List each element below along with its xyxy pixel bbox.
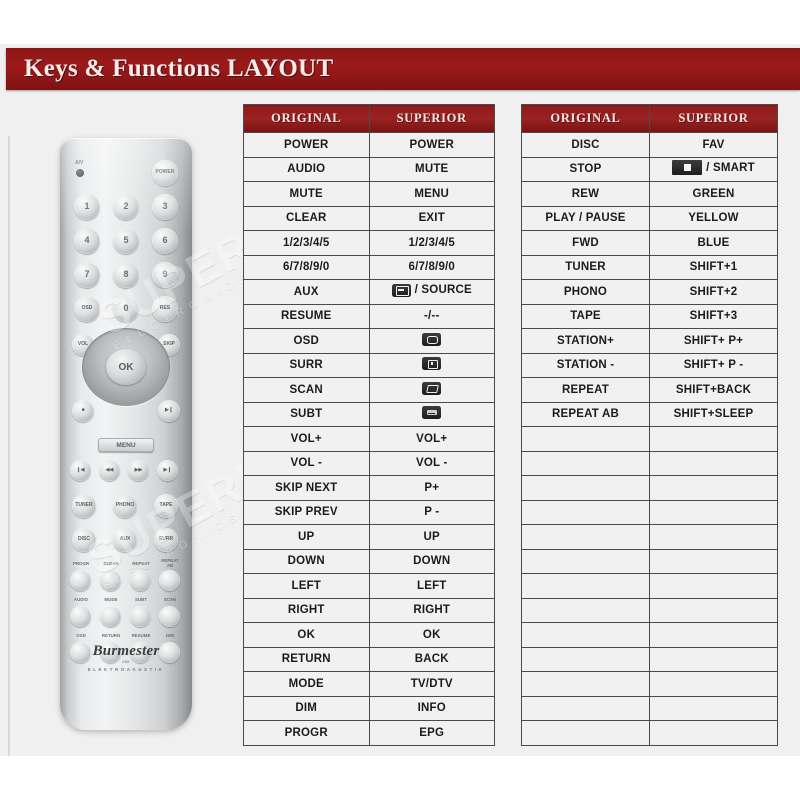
table-row: SUBT [244, 402, 495, 427]
table-row: PROGREPG [244, 721, 495, 746]
remote-label-subt: SUBT [128, 598, 154, 603]
cell-superior [650, 451, 778, 476]
cell-superior: MUTE [369, 157, 495, 182]
table-row [522, 574, 778, 599]
cell-superior: DOWN [369, 549, 495, 574]
remote-control-image: A/V POWER 1 2 3 4 5 6 7 8 9 OSD 0 RES VO… [60, 138, 192, 730]
table-row [522, 721, 778, 746]
remote-button-repeat-ab [159, 570, 180, 591]
cell-original: STATION+ [522, 329, 650, 354]
cell-original: TAPE [522, 304, 650, 329]
cell-original: CLEAR [244, 206, 370, 231]
remote-button-progr [70, 570, 91, 591]
table-row: 1/2/3/4/51/2/3/4/5 [244, 231, 495, 256]
table-row: UPUP [244, 525, 495, 550]
cell-original: SKIP PREV [244, 500, 370, 525]
cell-superior: -/-- [369, 304, 495, 329]
remote-label-clear: CLEAR [98, 562, 124, 567]
cell-superior [650, 500, 778, 525]
cell-superior [650, 623, 778, 648]
cell-superior [650, 549, 778, 574]
table-row: 6/7/8/9/06/7/8/9/0 [244, 255, 495, 280]
table-row: FWDBLUE [522, 231, 778, 256]
mapping-table: ORIGINAL SUPERIOR DISCFAVSTOP/ SMARTREWG… [521, 104, 778, 746]
table-row: STATION -SHIFT+ P - [522, 353, 778, 378]
cell-superior: P - [369, 500, 495, 525]
cell-superior: P+ [369, 476, 495, 501]
remote-label-progr: PROGR [68, 562, 94, 567]
surround-icon [422, 357, 441, 370]
cell-superior [650, 721, 778, 746]
cell-original: VOL - [244, 451, 370, 476]
cell-original: PHONO [522, 280, 650, 305]
remote-key-8: 8 [113, 262, 139, 288]
cell-superior [650, 525, 778, 550]
table-row: OKOK [244, 623, 495, 648]
cell-original: PROGR [244, 721, 370, 746]
remote-forward-button: ▶▶ [128, 460, 149, 481]
cell-original [522, 598, 650, 623]
table-row: STATION+SHIFT+ P+ [522, 329, 778, 354]
table-row: AUDIOMUTE [244, 157, 495, 182]
remote-key-7: 7 [74, 262, 100, 288]
table-row: MUTEMENU [244, 182, 495, 207]
remote-prev-button: ❙◀ [70, 460, 91, 481]
cell-original: VOL+ [244, 427, 370, 452]
cell-superior [650, 574, 778, 599]
cell-original: REW [522, 182, 650, 207]
cell-superior [650, 696, 778, 721]
table-row: VOL -VOL - [244, 451, 495, 476]
cell-superior: INFO [369, 696, 495, 721]
cell-superior: SHIFT+ P+ [650, 329, 778, 354]
cell-original: FWD [522, 231, 650, 256]
cell-superior: TV/DTV [369, 672, 495, 697]
column-header-original: ORIGINAL [244, 105, 370, 133]
cell-superior: 1/2/3/4/5 [369, 231, 495, 256]
cell-original [522, 476, 650, 501]
remote-label-resume: RESUME [128, 634, 154, 639]
remote-power-button: POWER [152, 160, 178, 186]
remote-label-dim: DIM [157, 634, 183, 639]
cell-original: SKIP NEXT [244, 476, 370, 501]
table-row: LEFTLEFT [244, 574, 495, 599]
cell-superior: SHIFT+2 [650, 280, 778, 305]
table-row [522, 427, 778, 452]
remote-key-9: 9 [152, 262, 178, 288]
remote-label-repeat-ab: REPEATAB [157, 559, 183, 568]
remote-label-repeat: REPEAT [128, 562, 154, 567]
remote-key-2: 2 [113, 194, 139, 220]
cell-original: POWER [244, 133, 370, 158]
cell-superior: OK [369, 623, 495, 648]
table-row: AUX/ SOURCE [244, 280, 495, 305]
table-row [522, 525, 778, 550]
remote-source-surr: SURR [154, 528, 178, 552]
cell-original [522, 549, 650, 574]
table-row: SKIP NEXTP+ [244, 476, 495, 501]
remote-rewind-button: ◀◀ [99, 460, 120, 481]
cell-superior [650, 476, 778, 501]
remote-brand-subtitle: ELEKTROAKUSTIK [60, 667, 192, 672]
cell-original: STATION - [522, 353, 650, 378]
remote-key-5: 5 [113, 228, 139, 254]
cell-original: 6/7/8/9/0 [244, 255, 370, 280]
table-row: REWGREEN [522, 182, 778, 207]
cell-original [522, 427, 650, 452]
cell-original: RESUME [244, 304, 370, 329]
cell-original: DISC [522, 133, 650, 158]
cell-superior [650, 647, 778, 672]
cell-superior: VOL+ [369, 427, 495, 452]
page-root: Keys & Functions LAYOUT A/V POWER 1 2 3 … [0, 0, 800, 800]
remote-button-audio [70, 606, 91, 627]
table-row: TUNERSHIFT+1 [522, 255, 778, 280]
cell-original: DOWN [244, 549, 370, 574]
cell-superior: BLUE [650, 231, 778, 256]
osd-icon [422, 333, 441, 346]
table-row: MODETV/DTV [244, 672, 495, 697]
cell-superior [650, 427, 778, 452]
subtitle-icon [422, 406, 441, 419]
cell-superior: BACK [369, 647, 495, 672]
cell-superior: SHIFT+SLEEP [650, 402, 778, 427]
remote-key-1: 1 [74, 194, 100, 220]
cell-original: AUX [244, 280, 370, 305]
cell-superior [369, 329, 495, 354]
cell-superior-text: / SMART [706, 162, 755, 174]
cell-original: OK [244, 623, 370, 648]
cell-original [522, 574, 650, 599]
mapping-table: ORIGINAL SUPERIOR POWERPOWERAUDIOMUTEMUT… [243, 104, 495, 746]
cell-original [522, 451, 650, 476]
remote-navigation-ring: OK [82, 328, 170, 406]
table-header-row: ORIGINAL SUPERIOR [522, 105, 778, 133]
cell-original: STOP [522, 157, 650, 182]
table-row: SURR [244, 353, 495, 378]
cell-superior: / SMART [650, 157, 778, 182]
cell-original [522, 623, 650, 648]
table-row: CLEAREXIT [244, 206, 495, 231]
remote-key-3: 3 [152, 194, 178, 220]
cell-original: RIGHT [244, 598, 370, 623]
table-row: SKIP PREVP - [244, 500, 495, 525]
remote-menu-button: MENU [98, 438, 154, 452]
cell-superior: / SOURCE [369, 280, 495, 305]
cell-original [522, 696, 650, 721]
cell-superior: SHIFT+ P - [650, 353, 778, 378]
remote-body: A/V POWER 1 2 3 4 5 6 7 8 9 OSD 0 RES VO… [60, 138, 192, 730]
remote-label-osd: OSD [68, 634, 94, 639]
cell-superior: UP [369, 525, 495, 550]
cell-superior-text: / SOURCE [415, 284, 472, 296]
table-row [522, 598, 778, 623]
remote-key-6: 6 [152, 228, 178, 254]
cell-superior: POWER [369, 133, 495, 158]
remote-label-scan: SCAN [157, 598, 183, 603]
table-row: STOP/ SMART [522, 157, 778, 182]
table-row: RIGHTRIGHT [244, 598, 495, 623]
table-row [522, 451, 778, 476]
table-row: OSD [244, 329, 495, 354]
cell-superior [369, 378, 495, 403]
cell-superior: FAV [650, 133, 778, 158]
remote-button-scan [159, 606, 180, 627]
page-title: Keys & Functions LAYOUT [6, 55, 334, 83]
table-row: REPEATSHIFT+BACK [522, 378, 778, 403]
table-row: DIMINFO [244, 696, 495, 721]
remote-key-display: OSD [74, 296, 100, 322]
cell-superior: SHIFT+BACK [650, 378, 778, 403]
left-rule [8, 136, 10, 756]
remote-source-aux: AUX [113, 528, 137, 552]
remote-source-disc: DISC [72, 528, 96, 552]
cell-superior: VOL - [369, 451, 495, 476]
cell-superior: EPG [369, 721, 495, 746]
table-header-row: ORIGINAL SUPERIOR [244, 105, 495, 133]
cell-original: MODE [244, 672, 370, 697]
cell-superior: GREEN [650, 182, 778, 207]
remote-brand-model: 080 [60, 660, 192, 664]
av-indicator-led [76, 169, 84, 177]
remote-label-audio: AUDIO [68, 598, 94, 603]
cell-original: REPEAT [522, 378, 650, 403]
table-row: PLAY / PAUSEYELLOW [522, 206, 778, 231]
cell-original: TUNER [522, 255, 650, 280]
remote-brand-logo: Burmester [60, 643, 192, 660]
table-row [522, 476, 778, 501]
remote-button-clear [100, 570, 121, 591]
cell-superior [650, 598, 778, 623]
table-row [522, 623, 778, 648]
column-header-original: ORIGINAL [522, 105, 650, 133]
key-mapping-table-right: ORIGINAL SUPERIOR DISCFAVSTOP/ SMARTREWG… [521, 104, 778, 746]
cell-superior: 6/7/8/9/0 [369, 255, 495, 280]
column-header-superior: SUPERIOR [369, 105, 495, 133]
remote-next-button: ▶❙ [157, 460, 178, 481]
cell-original [522, 525, 650, 550]
table-row: SCAN [244, 378, 495, 403]
remote-ok-button: OK [106, 349, 146, 385]
table-row: POWERPOWER [244, 133, 495, 158]
source-icon [392, 284, 411, 297]
remote-source-tuner: TUNER [72, 494, 96, 518]
table-row [522, 647, 778, 672]
cell-original [522, 721, 650, 746]
table-row: TAPESHIFT+3 [522, 304, 778, 329]
table-row [522, 672, 778, 697]
cell-original: REPEAT AB [522, 402, 650, 427]
cell-superior: YELLOW [650, 206, 778, 231]
cell-original: SURR [244, 353, 370, 378]
remote-key-0: 0 [113, 296, 139, 322]
cell-original: SUBT [244, 402, 370, 427]
table-row [522, 696, 778, 721]
cell-original [522, 500, 650, 525]
remote-button-repeat [130, 570, 151, 591]
table-row: RETURNBACK [244, 647, 495, 672]
table-body: POWERPOWERAUDIOMUTEMUTEMENUCLEAREXIT1/2/… [244, 133, 495, 746]
page-header-banner: Keys & Functions LAYOUT [6, 48, 800, 90]
cell-original: RETURN [244, 647, 370, 672]
cell-superior: SHIFT+3 [650, 304, 778, 329]
table-row [522, 549, 778, 574]
av-indicator-label: A/V [75, 160, 83, 166]
table-row: RESUME-/-- [244, 304, 495, 329]
cell-original: DIM [244, 696, 370, 721]
remote-label-mode: MODE [98, 598, 124, 603]
cell-superior: LEFT [369, 574, 495, 599]
remote-label-return: RETURN [98, 634, 124, 639]
stop-icon [672, 160, 702, 175]
cell-original: AUDIO [244, 157, 370, 182]
cell-superior [369, 353, 495, 378]
remote-source-tape: TAPE [154, 494, 178, 518]
cell-original: PLAY / PAUSE [522, 206, 650, 231]
table-row: DOWNDOWN [244, 549, 495, 574]
column-header-superior: SUPERIOR [650, 105, 778, 133]
remote-key-4: 4 [74, 228, 100, 254]
remote-button-mode [100, 606, 121, 627]
remote-button-subt [130, 606, 151, 627]
table-row: PHONOSHIFT+2 [522, 280, 778, 305]
cell-original: LEFT [244, 574, 370, 599]
scan-icon [422, 382, 441, 395]
cell-superior: EXIT [369, 206, 495, 231]
cell-superior [369, 402, 495, 427]
cell-superior: MENU [369, 182, 495, 207]
cell-original: OSD [244, 329, 370, 354]
remote-source-phono: PHONO [113, 494, 137, 518]
cell-original: 1/2/3/4/5 [244, 231, 370, 256]
cell-original [522, 672, 650, 697]
cell-superior [650, 672, 778, 697]
remote-key-enter: RES [152, 296, 178, 322]
remote-stop-button: ■ [72, 400, 94, 422]
cell-original: SCAN [244, 378, 370, 403]
table-row [522, 500, 778, 525]
table-row: REPEAT ABSHIFT+SLEEP [522, 402, 778, 427]
table-row: DISCFAV [522, 133, 778, 158]
cell-original: UP [244, 525, 370, 550]
table-body: DISCFAVSTOP/ SMARTREWGREENPLAY / PAUSEYE… [522, 133, 778, 746]
key-mapping-table-left: ORIGINAL SUPERIOR POWERPOWERAUDIOMUTEMUT… [243, 104, 495, 746]
cell-superior: RIGHT [369, 598, 495, 623]
cell-original: MUTE [244, 182, 370, 207]
table-row: VOL+VOL+ [244, 427, 495, 452]
remote-play-button: ▶❙ [158, 400, 180, 422]
cell-original [522, 647, 650, 672]
cell-superior: SHIFT+1 [650, 255, 778, 280]
